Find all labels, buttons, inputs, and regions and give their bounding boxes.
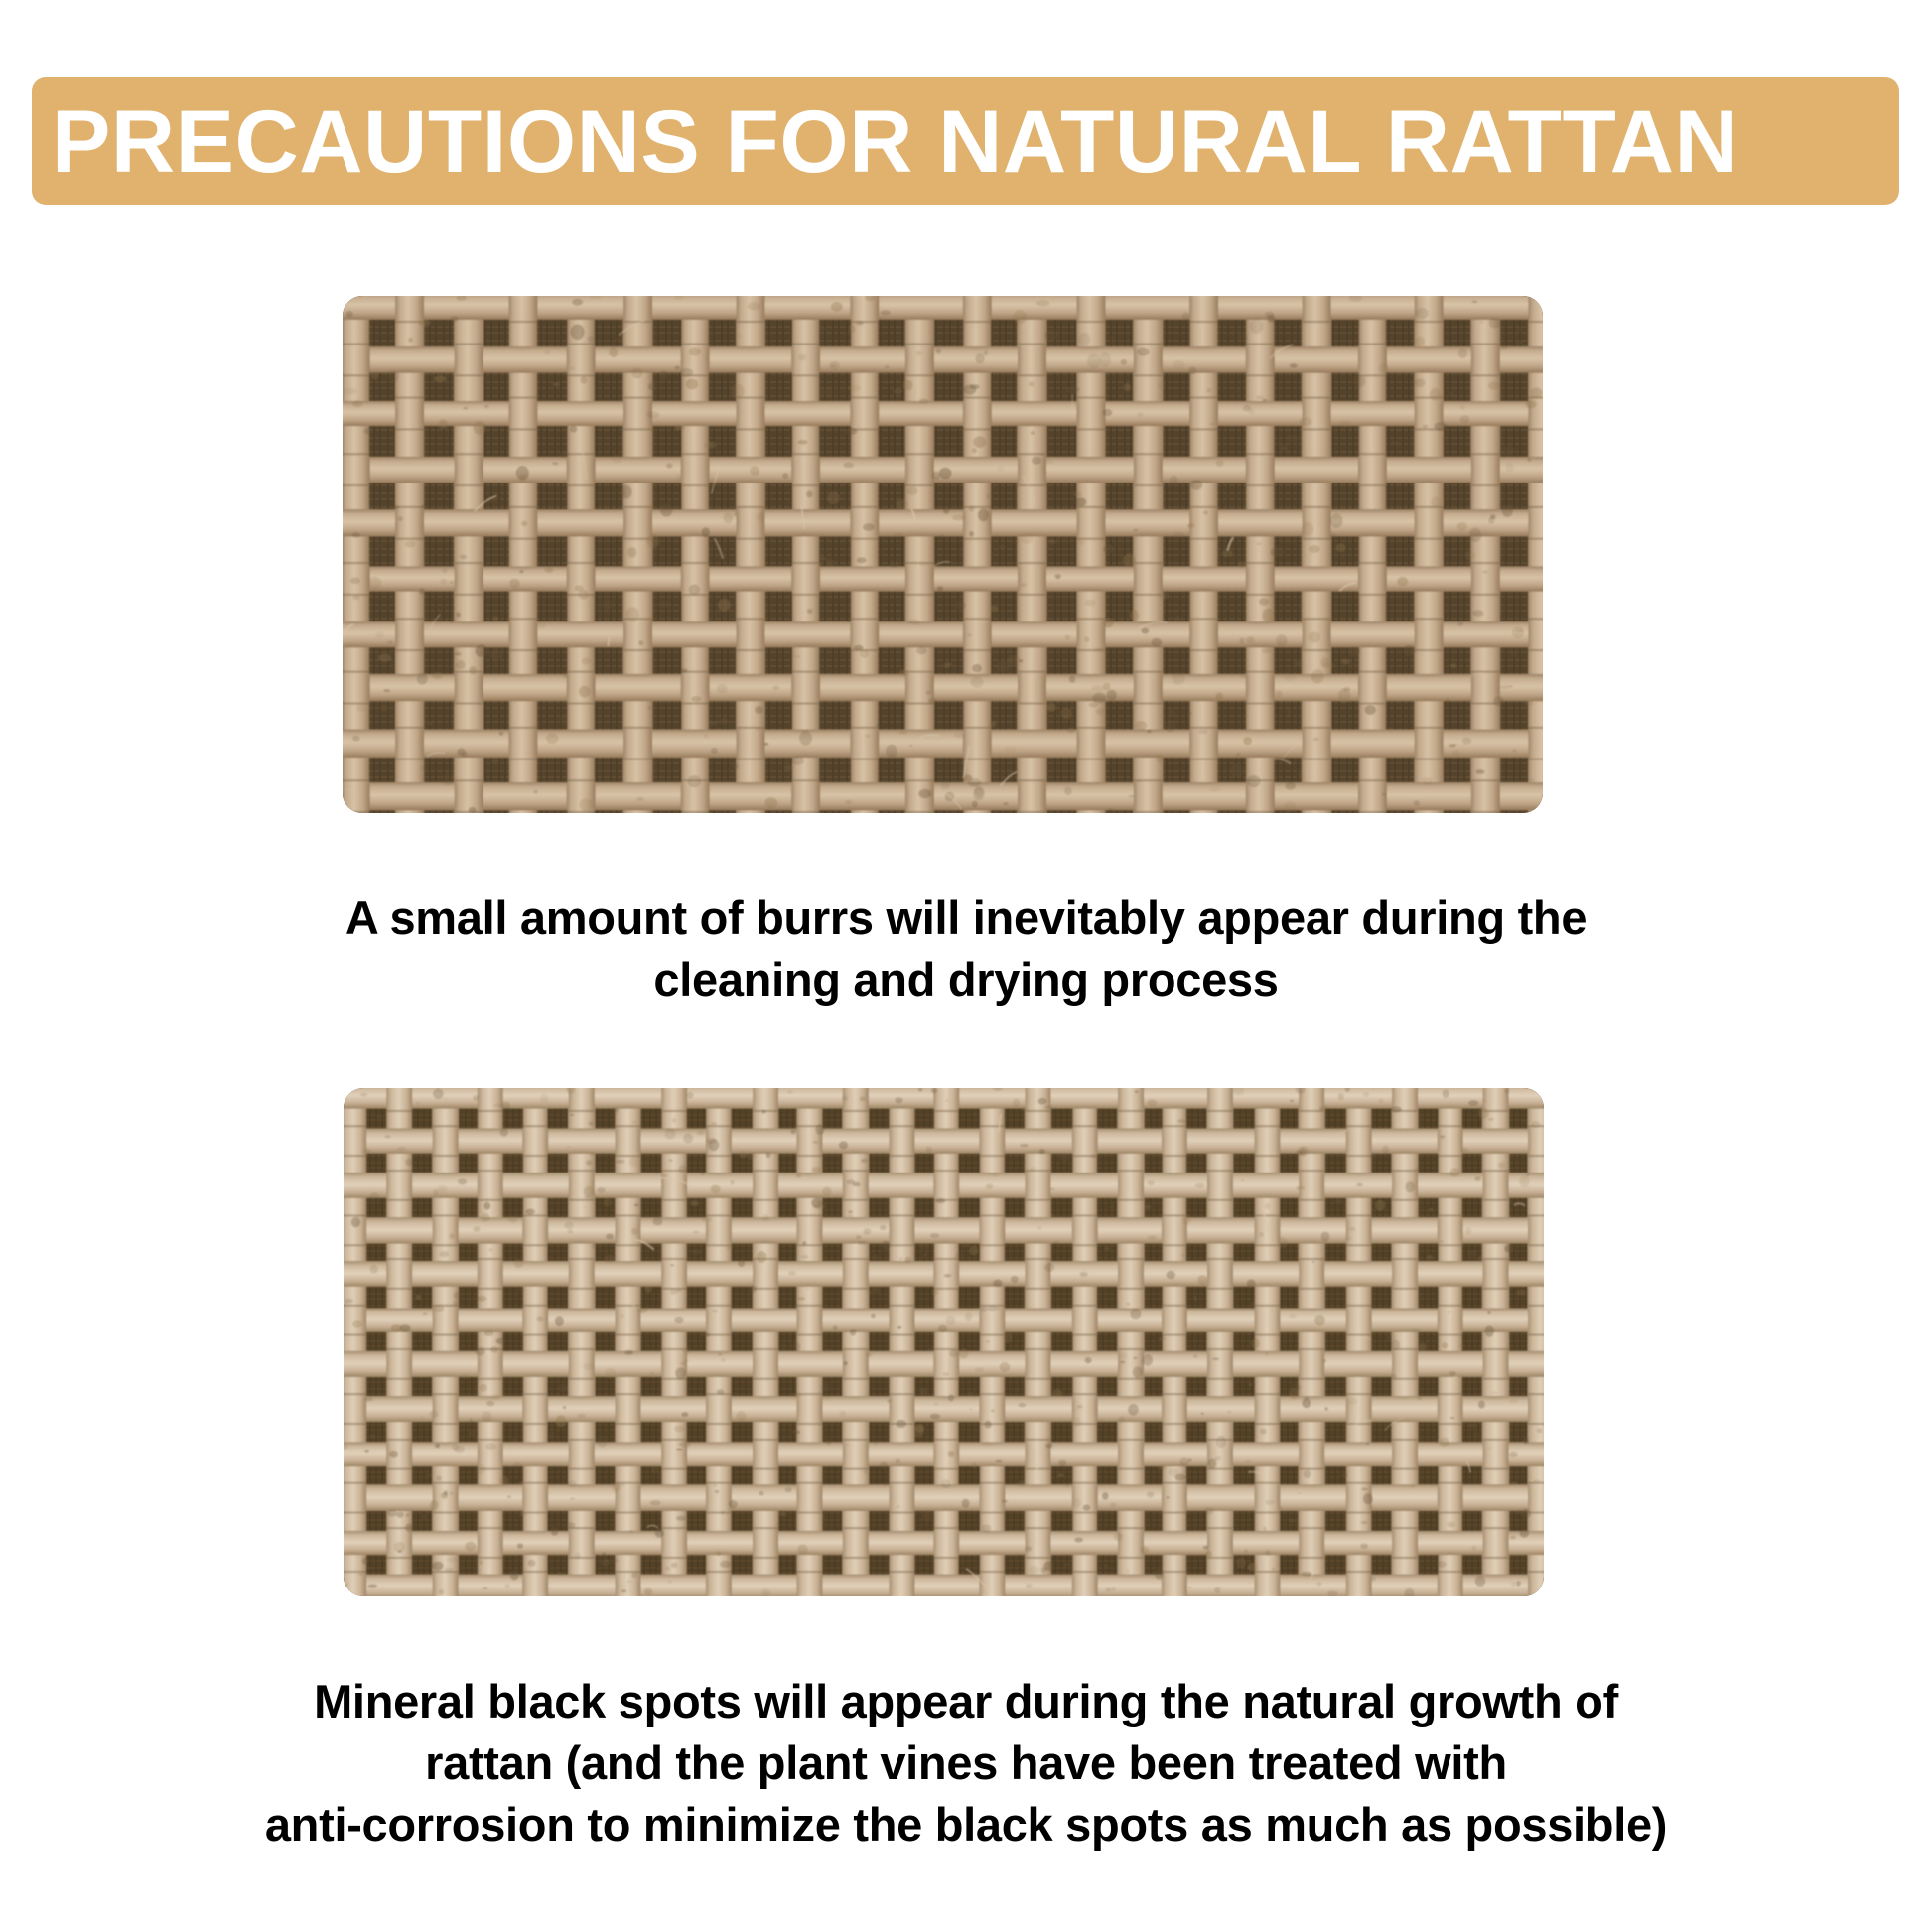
caption-black-spots: Mineral black spots will appear during t… bbox=[0, 1671, 1932, 1856]
header-banner: PRECAUTIONS FOR NATURAL RATTAN bbox=[32, 77, 1899, 205]
page-title: PRECAUTIONS FOR NATURAL RATTAN bbox=[32, 97, 1738, 186]
caption-line: anti-corrosion to minimize the black spo… bbox=[0, 1794, 1932, 1856]
caption-burrs: A small amount of burrs will inevitably … bbox=[0, 888, 1932, 1011]
rattan-weave-coarse-image bbox=[343, 296, 1543, 813]
caption-line: Mineral black spots will appear during t… bbox=[0, 1671, 1932, 1732]
infographic-page: PRECAUTIONS FOR NATURAL RATTAN bbox=[0, 0, 1932, 1932]
rattan-weave-fine-image bbox=[344, 1088, 1544, 1596]
caption-line: A small amount of burrs will inevitably … bbox=[0, 888, 1932, 949]
caption-line: rattan (and the plant vines have been tr… bbox=[0, 1732, 1932, 1794]
caption-line: cleaning and drying process bbox=[0, 949, 1932, 1011]
